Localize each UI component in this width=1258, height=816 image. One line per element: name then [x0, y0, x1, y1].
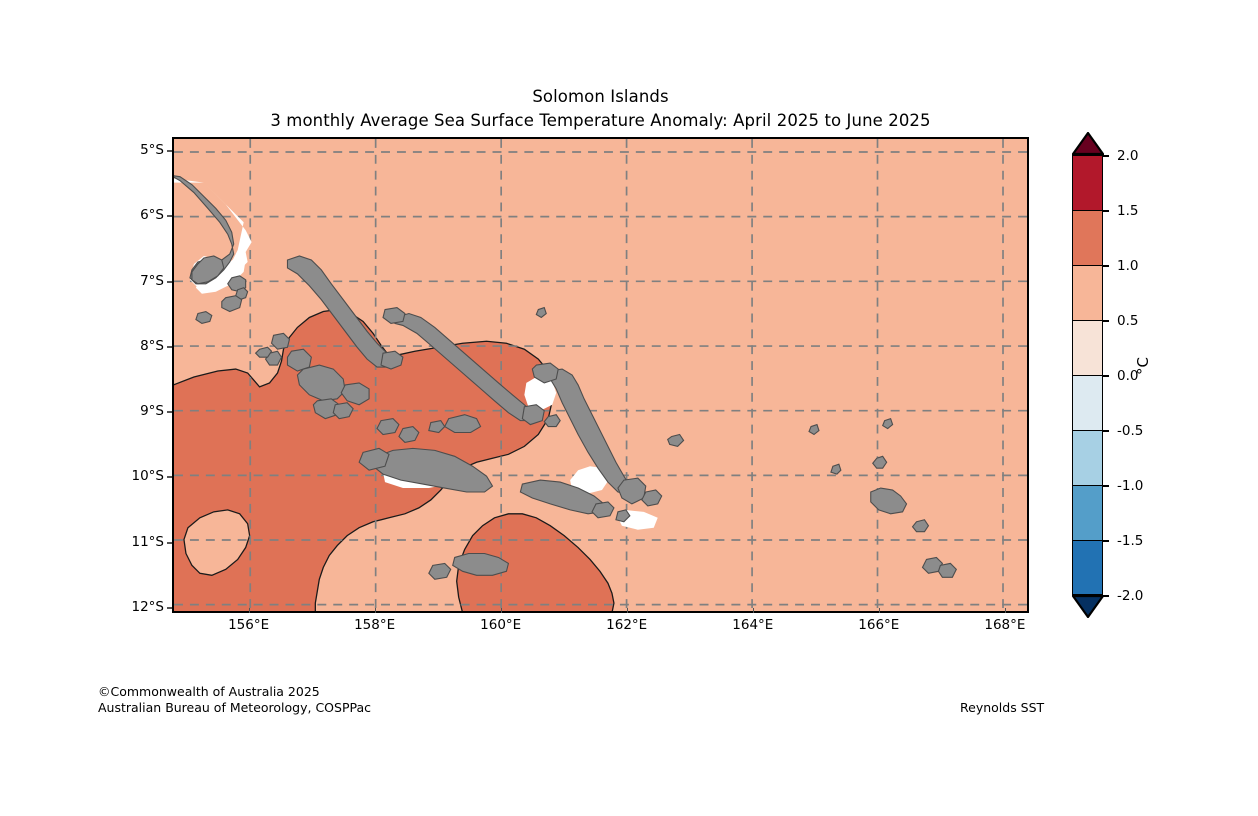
- xtick-label-160E: 160°E: [480, 617, 521, 633]
- colorbar-under-arrow: [1072, 595, 1104, 618]
- colorbar-band-0p5-1p0: [1072, 265, 1103, 320]
- colorbar-tickmark-m0p5: [1103, 430, 1109, 432]
- colorbar-tickmark-m1p0: [1103, 485, 1109, 487]
- xtick-label-166E: 166°E: [858, 617, 899, 633]
- xtick-label-164E: 164°E: [732, 617, 773, 633]
- footer-data-source: Reynolds SST: [960, 700, 1044, 715]
- colorbar-label-1p5: 1.5: [1117, 203, 1138, 219]
- colorbar-tickmark-m2p0: [1103, 595, 1109, 597]
- xtick-label-168E: 168°E: [984, 617, 1025, 633]
- colorbar-label-m1p5: -1.5: [1117, 533, 1143, 549]
- xtick-label-162E: 162°E: [606, 617, 647, 633]
- colorbar-band-0p0-0p5: [1072, 320, 1103, 375]
- xtick-mark-160E: [501, 608, 503, 613]
- colorbar-tickmark-0p5: [1103, 320, 1109, 322]
- colorbar-unit-label: °C: [1134, 357, 1152, 375]
- xtick-mark-168E: [1005, 608, 1007, 613]
- colorbar-tickmark-1p0: [1103, 265, 1109, 267]
- colorbar-label-m0p5: -0.5: [1117, 423, 1143, 439]
- colorbar-band-m0p5-0p0: [1072, 375, 1103, 430]
- colorbar-tickmark-0p0: [1103, 375, 1109, 377]
- colorbar-tickmark-2p0: [1103, 155, 1109, 157]
- xtick-label-158E: 158°E: [354, 617, 395, 633]
- colorbar-label-m2p0: -2.0: [1117, 588, 1143, 604]
- colorbar-band-1p0-1p5: [1072, 210, 1103, 265]
- colorbar-band-1p5-2p0: [1072, 155, 1103, 210]
- colorbar-label-0p5: 0.5: [1117, 313, 1138, 329]
- xtick-mark-166E: [879, 608, 881, 613]
- figure-canvas: Solomon Islands 3 monthly Average Sea Su…: [0, 0, 1258, 816]
- footer-agency: Australian Bureau of Meteorology, COSPPa…: [98, 700, 371, 715]
- xtick-mark-156E: [249, 608, 251, 613]
- xtick-mark-164E: [753, 608, 755, 613]
- colorbar-over-arrow: [1072, 132, 1104, 155]
- colorbar-tickmark-m1p5: [1103, 540, 1109, 542]
- xtick-mark-158E: [375, 608, 377, 613]
- colorbar-band-m1p5-m1p0: [1072, 485, 1103, 540]
- colorbar-band-m1p0-m0p5: [1072, 430, 1103, 485]
- colorbar-label-2p0: 2.0: [1117, 148, 1138, 164]
- colorbar-tickmark-1p5: [1103, 210, 1109, 212]
- colorbar-band-m2p0-m1p5: [1072, 540, 1103, 595]
- xtick-mark-162E: [627, 608, 629, 613]
- footer-copyright: ©Commonwealth of Australia 2025: [98, 684, 320, 699]
- xtick-label-156E: 156°E: [228, 617, 269, 633]
- colorbar-label-1p0: 1.0: [1117, 258, 1138, 274]
- colorbar[interactable]: [1072, 155, 1103, 595]
- colorbar-label-m1p0: -1.0: [1117, 478, 1143, 494]
